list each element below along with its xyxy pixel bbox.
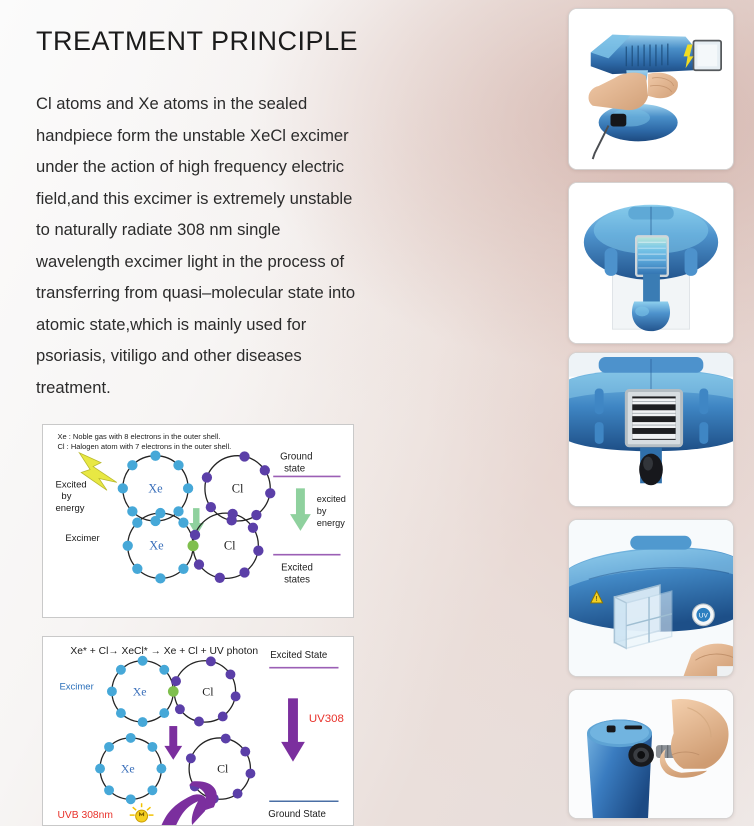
svg-text:Xe: Xe — [133, 684, 147, 698]
diagram1-excited-states-label: Excited states — [281, 562, 315, 585]
diagram1-energy-arrow — [290, 488, 311, 531]
diagram1-xe-atom-top: Xe — [118, 451, 194, 527]
excimer-formation-diagram: Xe : Noble gas with 8 electrons in the o… — [42, 424, 354, 618]
diagram2-uv-emission-arrow — [281, 698, 305, 761]
photo-lamp-head-filter-closeup[interactable] — [568, 352, 734, 507]
page-title: TREATMENT PRINCIPLE — [36, 26, 358, 57]
svg-text:Xe: Xe — [148, 481, 163, 495]
svg-text:UV: UV — [699, 613, 709, 620]
photo-handheld-excimer-handpiece-in-hand[interactable] — [568, 8, 734, 170]
diagram2-ground-state-label: Ground State — [268, 809, 326, 820]
diagram2-excimer-label: Excimer — [59, 681, 93, 692]
excimer-emission-diagram: Xe* + Cl→ XeCl* → Xe + Cl + UV photon Ex… — [42, 636, 354, 826]
diagram1-legend-line2: Cl : Halogen atom with 7 electrons in th… — [57, 442, 231, 451]
diagram2-shared-electron — [168, 686, 179, 697]
svg-text:Xe: Xe — [121, 762, 135, 776]
diagram2-equation: Xe* + Cl→ XeCl* → Xe + Cl + UV photon — [70, 646, 258, 657]
diagram1-shared-electron — [188, 540, 199, 551]
diagram2-dissociation-arrow — [164, 726, 182, 760]
principle-description: Cl atoms and Xe atoms in the sealed hand… — [36, 88, 436, 403]
diagram2-uvb-label: UVB 308nm — [57, 810, 112, 821]
svg-text:Cl: Cl — [217, 762, 229, 776]
diagram2-photon-emission-arrow — [160, 781, 216, 825]
diagram1-cl-atom-top: Cl — [202, 451, 276, 525]
diagram1-excited-by-energy-right: excited by energy — [317, 494, 349, 528]
diagram1-xe-atom-bottom: Xe — [123, 508, 199, 584]
diagram2-excited-state-label: Excited State — [270, 650, 327, 661]
lightbulb-icon — [130, 803, 154, 822]
diagram2-xe-atom-bottom: Xe — [95, 733, 166, 804]
svg-text:Cl: Cl — [202, 684, 214, 698]
page-root: TREATMENT PRINCIPLE Cl atoms and Xe atom… — [0, 0, 754, 826]
content-column: TREATMENT PRINCIPLE Cl atoms and Xe atom… — [0, 0, 560, 826]
photo-connector-port-with-hand[interactable] — [568, 689, 734, 819]
diagram2-cl-atom-top: Cl — [171, 656, 240, 726]
diagram1-ground-state-label: Ground state — [280, 452, 315, 475]
diagram1-legend-line1: Xe : Noble gas with 8 electrons in the o… — [57, 432, 220, 441]
photo-treatment-head-angled-with-spacer[interactable]: ! UV — [568, 519, 734, 677]
svg-text:Cl: Cl — [232, 481, 244, 495]
photo-excimer-lamp-head-front-view[interactable] — [568, 182, 734, 344]
svg-text:Cl: Cl — [224, 539, 236, 553]
diagram2-xe-atom-top: Xe — [107, 656, 178, 727]
svg-text:!: ! — [596, 596, 598, 603]
diagram1-excimer-label: Excimer — [65, 533, 99, 544]
diagram2-cl-atom-bottom: Cl — [186, 734, 255, 804]
diagram2-uv308-label: UV308 — [309, 713, 344, 725]
svg-text:Xe: Xe — [149, 539, 164, 553]
diagram1-excited-by-energy-left: Excited by energy — [55, 479, 89, 514]
